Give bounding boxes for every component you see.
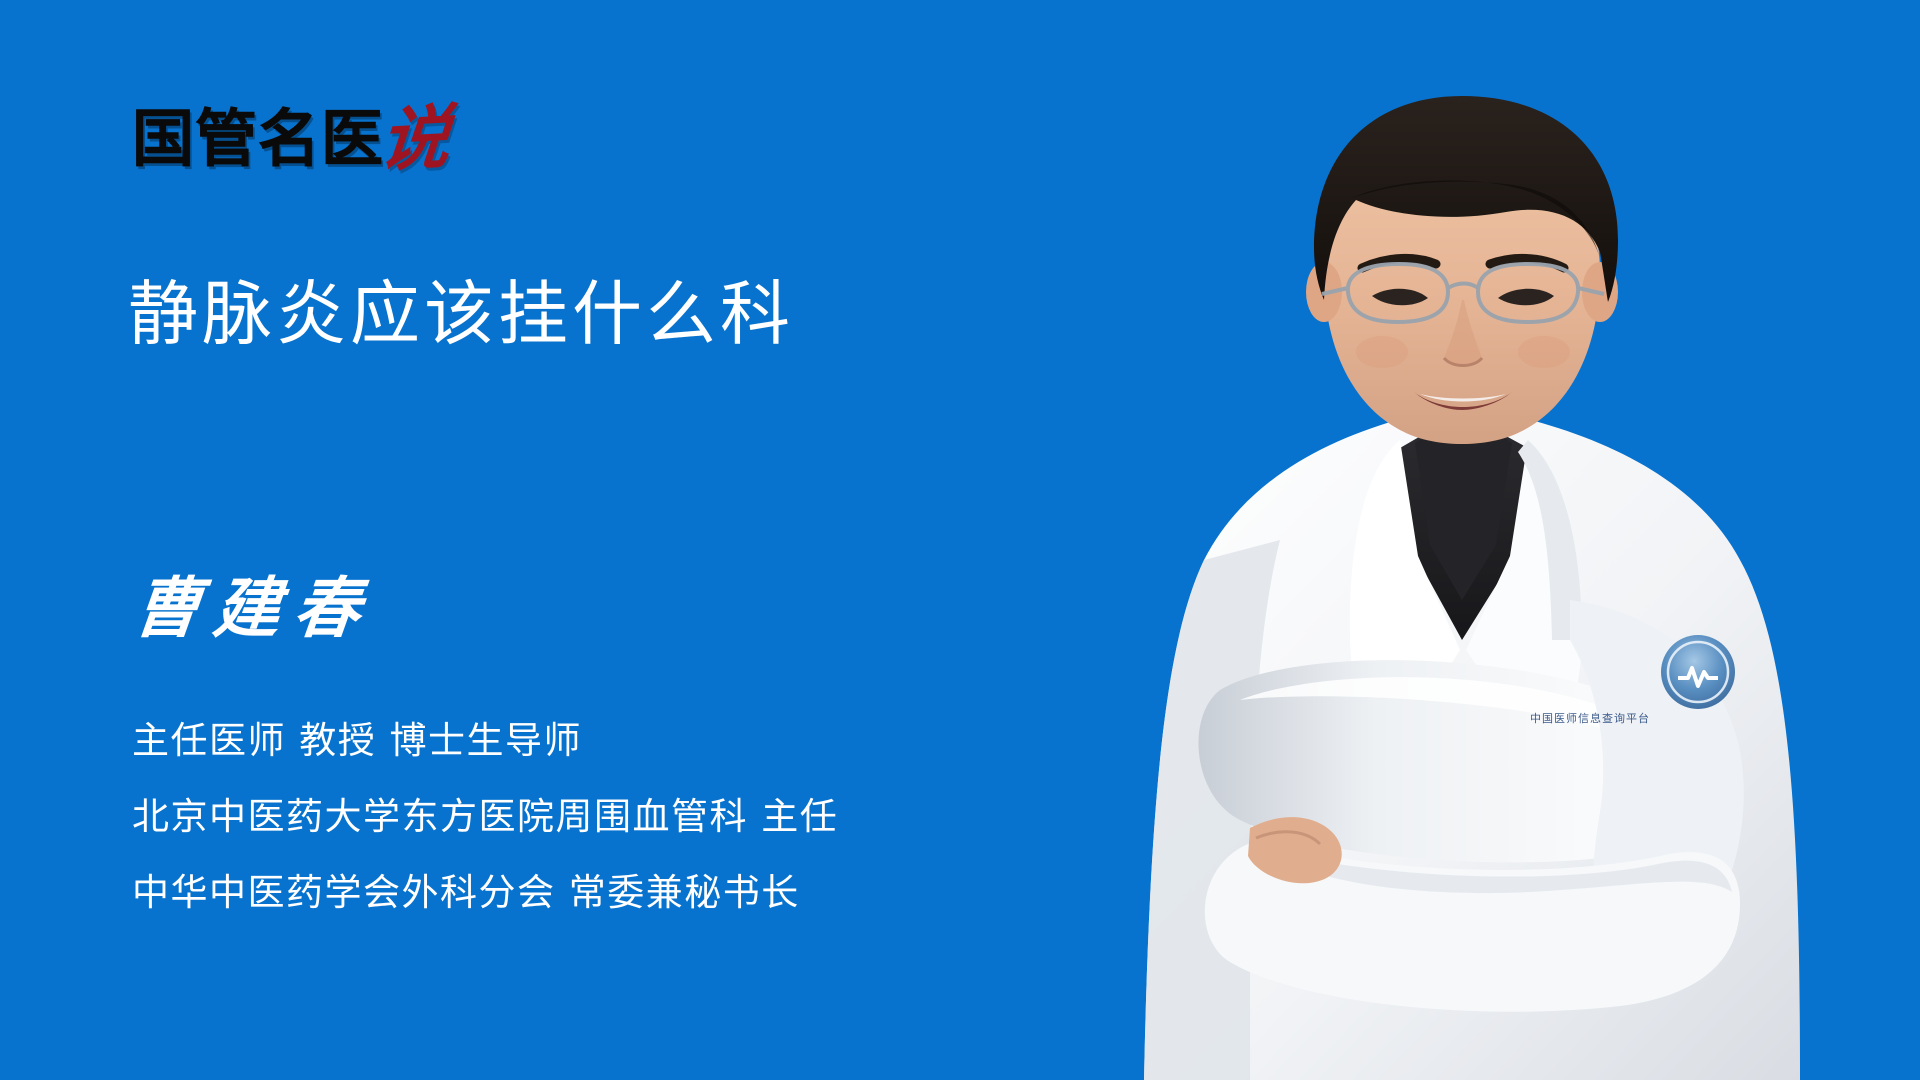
brand-logo-main-text: 国管名医 xyxy=(132,108,384,170)
coat-badge xyxy=(1661,635,1735,709)
brand-logo: 国管名医 说 xyxy=(132,96,450,170)
doctor-credentials: 主任医师 教授 博士生导师 北京中医药大学东方医院周围血管科 主任 中华中医药学… xyxy=(132,718,838,916)
doctor-portrait xyxy=(1100,0,1920,1080)
credential-line-3: 中华中医药学会外科分会 常委兼秘书长 xyxy=(132,870,838,916)
doctor-name: 曹建春 xyxy=(130,570,378,646)
credential-line-2: 北京中医药大学东方医院周围血管科 主任 xyxy=(132,794,838,840)
coat-badge-caption: 中国医师信息查询平台 xyxy=(1530,710,1650,726)
episode-title: 静脉炎应该挂什么科 xyxy=(128,271,794,357)
video-cover-slide: 国管名医 说 静脉炎应该挂什么科 曹建春 主任医师 教授 博士生导师 北京中医药… xyxy=(0,0,1920,1080)
brand-logo-accent-text: 说 xyxy=(377,106,453,172)
credential-line-1: 主任医师 教授 博士生导师 xyxy=(132,718,838,764)
